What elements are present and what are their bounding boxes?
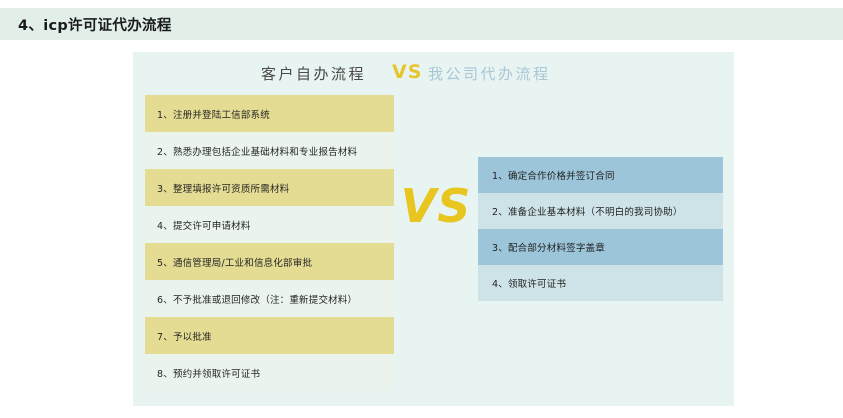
list-item: 3、整理填报许可资质所需材料 bbox=[145, 169, 394, 206]
list-item: 4、提交许可申请材料 bbox=[145, 206, 394, 243]
list-item: 3、配合部分材料签字盖章 bbox=[478, 229, 723, 265]
comparison-panel: 客户自办流程 VS 我公司代办流程 1、注册并登陆工信部系统 2、熟悉办理包括企… bbox=[133, 52, 734, 406]
comparison-heading-row: 客户自办流程 VS 我公司代办流程 bbox=[133, 58, 734, 94]
heading-vs-label: VS bbox=[392, 61, 422, 83]
customer-flow-list: 1、注册并登陆工信部系统 2、熟悉办理包括企业基础材料和专业报告材料 3、整理填… bbox=[145, 95, 394, 391]
heading-customer-flow: 客户自办流程 bbox=[261, 63, 366, 84]
page-title: 4、icp许可证代办流程 bbox=[0, 14, 172, 35]
list-item: 2、熟悉办理包括企业基础材料和专业报告材料 bbox=[145, 132, 394, 169]
list-item: 2、准备企业基本材料（不明白的我司协助） bbox=[478, 193, 723, 229]
list-item: 4、领取许可证书 bbox=[478, 265, 723, 301]
center-vs-label: VS bbox=[389, 183, 483, 229]
agency-flow-list: 1、确定合作价格并签订合同 2、准备企业基本材料（不明白的我司协助） 3、配合部… bbox=[478, 157, 723, 301]
heading-agency-flow: 我公司代办流程 bbox=[428, 63, 551, 84]
list-item: 1、注册并登陆工信部系统 bbox=[145, 95, 394, 132]
list-item: 6、不予批准或退回修改（注：重新提交材料） bbox=[145, 280, 394, 317]
list-item: 5、通信管理局/工业和信息化部审批 bbox=[145, 243, 394, 280]
section-header: 4、icp许可证代办流程 bbox=[0, 8, 843, 40]
list-item: 1、确定合作价格并签订合同 bbox=[478, 157, 723, 193]
list-item: 7、予以批准 bbox=[145, 317, 394, 354]
list-item: 8、预约并领取许可证书 bbox=[145, 354, 394, 391]
